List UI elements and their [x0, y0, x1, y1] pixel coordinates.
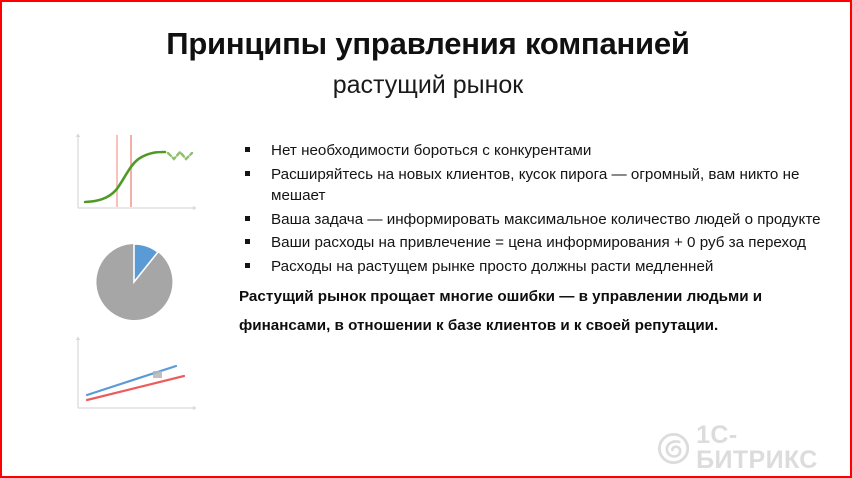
closing-statement: Растущий рынок прощает многие ошибки — в…	[239, 283, 795, 340]
bitrix-spiral-icon	[658, 432, 689, 465]
list-item: Ваша задача — информировать максимальное…	[239, 209, 844, 231]
page-title: Принципы управления компанией	[2, 26, 852, 63]
list-item: Расширяйтесь на новых клиентов, кусок пи…	[239, 164, 844, 207]
bullet-square-icon	[245, 216, 250, 221]
y-axis-arrow	[76, 134, 81, 138]
list-item-label: Ваша задача — информировать максимальное…	[271, 211, 821, 228]
thumbnail-column	[64, 128, 214, 420]
pie-chart	[64, 224, 204, 324]
volatility-zigzag	[168, 152, 192, 159]
logo-text: 1С-БИТРИКС	[696, 423, 850, 473]
page-subtitle: растущий рынок	[2, 70, 852, 100]
bullet-square-icon	[245, 239, 250, 244]
s-curve-chart	[64, 128, 204, 220]
list-item-label: Расходы на растущем рынке просто должны …	[271, 258, 713, 275]
list-item-label: Нет необходимости бороться с конкурентам…	[271, 142, 591, 159]
list-item: Нет необходимости бороться с конкурентам…	[239, 140, 844, 162]
two-lines-svg	[64, 332, 204, 420]
inline-label-artifact	[153, 371, 162, 378]
growth-curve	[85, 152, 165, 202]
s-curve-svg	[64, 128, 204, 220]
list-item: Расходы на растущем рынке просто должны …	[239, 256, 844, 278]
two-lines-chart	[64, 332, 204, 420]
bullet-square-icon	[245, 147, 250, 152]
bitrix-logo: 1С-БИТРИКС	[658, 423, 850, 473]
list-item: Ваши расходы на привлечение = цена инфор…	[239, 232, 844, 254]
presentation-slide: Принципы управления компанией растущий р…	[0, 0, 852, 478]
content-body: Нет необходимости бороться с конкурентам…	[239, 140, 844, 340]
list-item-label: Ваши расходы на привлечение = цена инфор…	[271, 234, 806, 251]
bullet-list: Нет необходимости бороться с конкурентам…	[239, 140, 844, 277]
title-block: Принципы управления компанией растущий р…	[2, 26, 852, 100]
list-item-label: Расширяйтесь на новых клиентов, кусок пи…	[271, 166, 799, 205]
bullet-square-icon	[245, 263, 250, 268]
y-axis-arrow	[76, 337, 80, 341]
pie-chart-svg	[64, 224, 204, 324]
x-axis-arrow	[193, 206, 197, 210]
x-axis-arrow	[193, 406, 197, 410]
bullet-square-icon	[245, 171, 250, 176]
